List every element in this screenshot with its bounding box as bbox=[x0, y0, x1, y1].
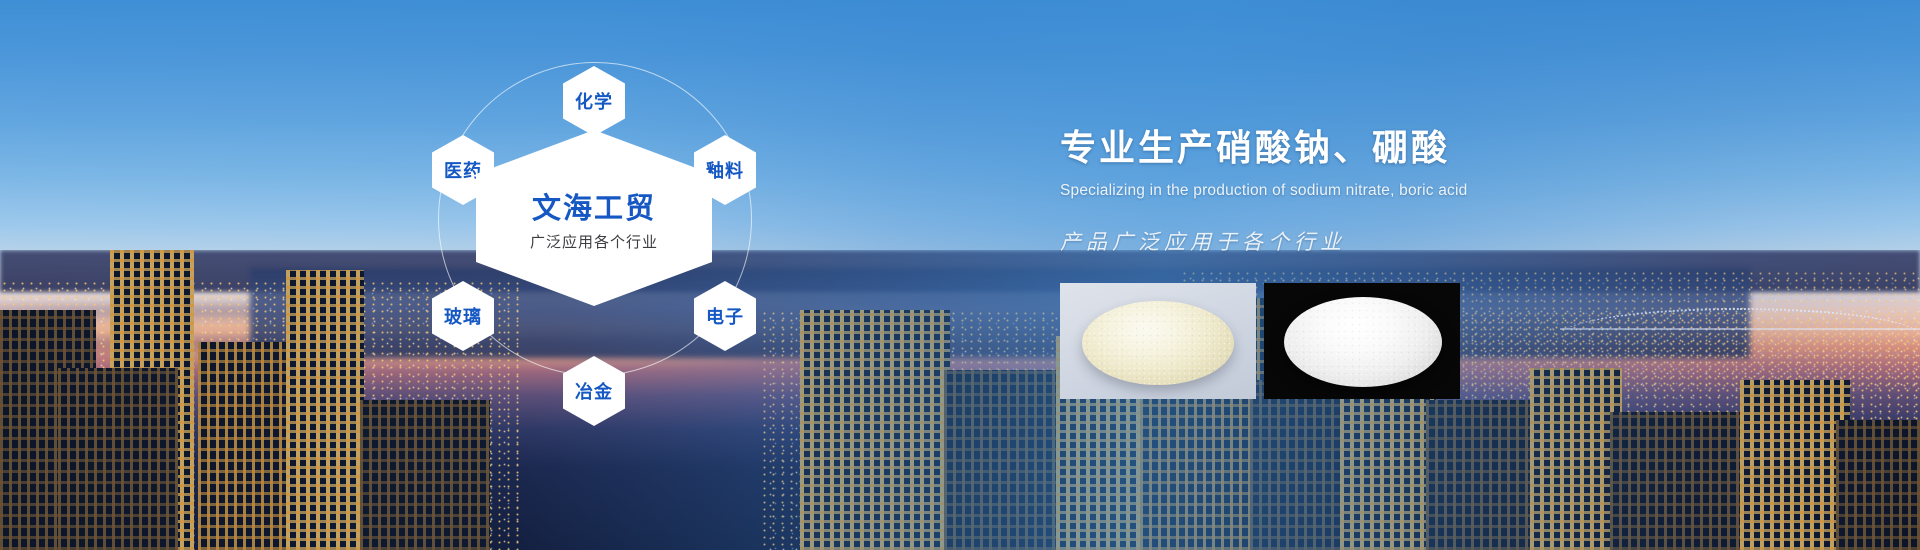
hex-node-label: 化学 bbox=[575, 88, 613, 114]
banner-headline: 专业生产硝酸钠、硼酸 bbox=[1060, 128, 1760, 168]
banner-copy: 专业生产硝酸钠、硼酸 Specializing in the productio… bbox=[1060, 128, 1760, 256]
hex-node-label: 电子 bbox=[706, 303, 744, 329]
powder-pile bbox=[1082, 301, 1234, 385]
powder-grain-texture bbox=[1082, 301, 1234, 385]
product-photo-boric-acid[interactable] bbox=[1264, 283, 1460, 399]
hex-node-label: 玻璃 bbox=[444, 303, 482, 329]
company-name: 文海工贸 bbox=[532, 185, 656, 227]
brand-color-overlay bbox=[0, 0, 1920, 550]
product-photo-group bbox=[1060, 283, 1460, 399]
powder-grain-texture bbox=[1284, 297, 1442, 387]
product-photo-sodium-nitrate[interactable] bbox=[1060, 283, 1256, 399]
hex-node-label: 冶金 bbox=[575, 378, 613, 404]
powder-pile bbox=[1284, 297, 1442, 387]
industry-hex-diagram: 化学 釉料 电子 冶金 玻璃 医药 文海工贸 广泛应用各个行业 bbox=[430, 28, 760, 428]
promo-banner: 化学 釉料 电子 冶金 玻璃 医药 文海工贸 广泛应用各个行业 专业生产硝酸钠、… bbox=[0, 0, 1920, 550]
banner-subheadline: Specializing in the production of sodium… bbox=[1060, 182, 1760, 200]
company-tagline: 广泛应用各个行业 bbox=[530, 231, 658, 252]
banner-tagline: 产品广泛应用于各个行业 bbox=[1060, 226, 1760, 256]
